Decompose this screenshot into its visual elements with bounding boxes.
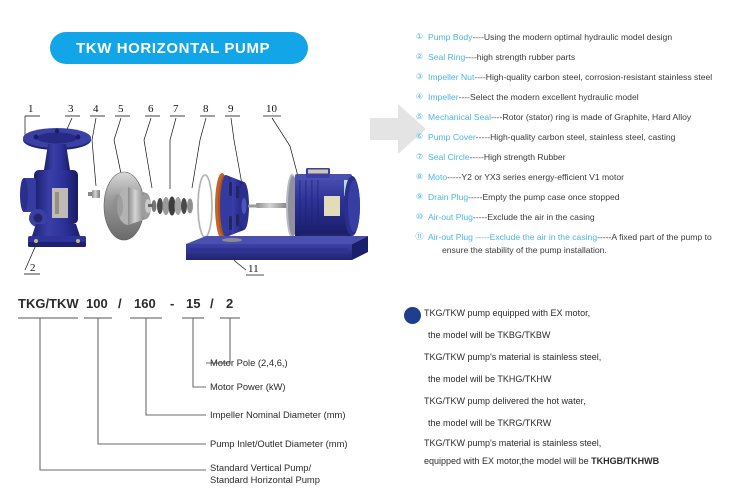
part-description: Select the modern excellent hydraulic mo… — [470, 92, 639, 103]
pump-cover-part — [215, 173, 249, 239]
variant-line: TKG/TKW pump's material is stainless ste… — [424, 434, 756, 452]
model-code-inlet: 100 — [86, 296, 108, 311]
model-variant-notes: TKG/TKW pump equipped with EX motor, the… — [400, 302, 756, 470]
part-description: Empty the pump case once stopped — [482, 192, 619, 203]
variant-line-prefix: equipped with EX motor,the model will be — [424, 456, 591, 466]
mechanical-seal-part — [148, 197, 193, 216]
part-dash: ----- — [468, 192, 482, 203]
variant-line: the model will be TKBG/TKBW — [428, 324, 756, 346]
motor-part — [248, 168, 360, 242]
base-plate-part — [186, 236, 368, 260]
part-description: Exclude the air in the casing — [487, 212, 595, 223]
variant-line-final: equipped with EX motor,the model will be… — [424, 452, 756, 470]
part-number: ④ — [414, 92, 425, 102]
seal-circle-part — [198, 175, 212, 237]
variant-model-code: TKHGB/TKHWB — [591, 456, 659, 466]
callout-1: 1 — [28, 103, 34, 115]
callout-5: 5 — [118, 103, 124, 115]
part-number: ① — [414, 32, 425, 42]
part-dash: ----- — [470, 152, 484, 163]
part-dash: ---- — [474, 72, 485, 83]
model-designation-diagram: TKG/TKW 100 / 160 - 15 / 2 — [0, 292, 396, 500]
part-row: ⑧ Moto ----- Y2 or YX3 series energy-eff… — [414, 172, 754, 192]
bullet-point-icon — [404, 307, 421, 324]
part-row: ⑪ Air-out Plug -----Exclude the air in t… — [414, 232, 754, 255]
part-name: Impeller Nut — [428, 72, 474, 83]
label-impeller-diameter: Impeller Nominal Diameter (mm) — [210, 409, 345, 420]
callout-6: 6 — [148, 103, 154, 115]
model-code-slash2: / — [210, 296, 214, 311]
parts-description-list: ① Pump Body ---- Using the modern optima… — [414, 32, 754, 255]
part-number: ⑥ — [414, 132, 425, 142]
part-number: ⑩ — [414, 212, 425, 222]
label-motor-pole: Motor Pole (2,4,6,) — [210, 357, 288, 368]
callout-11: 11 — [248, 263, 259, 275]
part-name: Seal Circle — [428, 152, 470, 163]
model-code-impeller: 160 — [134, 296, 156, 311]
impeller-part — [104, 172, 151, 240]
pump-body-part — [20, 128, 91, 247]
part-description-highlight: Exclude the air in the casing — [490, 232, 598, 242]
part-dash: ----- — [473, 212, 487, 223]
part-number: ② — [414, 52, 425, 62]
part-name: Impeller — [428, 92, 459, 103]
part-number: ③ — [414, 72, 425, 82]
callout-3: 3 — [68, 103, 74, 115]
label-inlet-diameter: Pump Inlet/Outlet Diameter (mm) — [210, 438, 348, 449]
part-name: Air-out Plug — [428, 232, 473, 242]
part-dash: ----- — [447, 172, 461, 183]
model-code-series: TKG/TKW — [18, 296, 79, 311]
part-row: ② Seal Ring ---- high strength rubber pa… — [414, 52, 754, 72]
part-description: High-quality carbon steel, stainless ste… — [490, 132, 675, 143]
variant-line: TKG/TKW pump equipped with EX motor, — [424, 302, 756, 324]
variant-line: the model will be TKHG/TKHW — [428, 368, 756, 390]
callout-7: 7 — [173, 103, 179, 115]
pump-product-sheet: TKW HORIZONTAL PUMP — [0, 0, 756, 500]
variant-line: the model will be TKRG/TKRW — [428, 412, 756, 434]
part-row: ⑩ Air-out Plug ----- Exclude the air in … — [414, 212, 754, 232]
callout-8: 8 — [203, 103, 209, 115]
callout-10: 10 — [266, 103, 278, 115]
part-number: ⑪ — [414, 232, 425, 242]
part-dash: ----- — [473, 232, 490, 242]
part-number: ⑧ — [414, 172, 425, 182]
part-name: Seal Ring — [428, 52, 465, 63]
label-motor-power: Motor Power (kW) — [210, 381, 286, 392]
impeller-nut-part — [88, 190, 100, 198]
part-row: ⑦ Seal Circle ----- High strength Rubber — [414, 152, 754, 172]
part-dash: ---- — [472, 32, 483, 43]
part-name: Air-out Plug — [428, 212, 473, 223]
label-standard-vertical: Standard Vertical Pump/ — [210, 462, 311, 473]
variant-line: TKG/TKW pump's material is stainless ste… — [424, 346, 756, 368]
part-dash: ---- — [465, 52, 476, 63]
title-banner: TKW HORIZONTAL PUMP — [50, 32, 308, 64]
model-code-pole: 2 — [226, 296, 233, 311]
model-code-power: 15 — [186, 296, 200, 311]
part-row: ⑨ Drain Plug ----- Empty the pump case o… — [414, 192, 754, 212]
part-number: ⑤ — [414, 112, 425, 122]
part-description: High strength Rubber — [484, 152, 566, 163]
part-description: high strength rubber parts — [477, 52, 575, 63]
label-standard-horizontal: Standard Horizontal Pump — [210, 474, 320, 485]
part-number: ⑨ — [414, 192, 425, 202]
part-row: ③ Impeller Nut ---- High-quality carbon … — [414, 72, 754, 92]
callout-4: 4 — [93, 103, 99, 115]
part-dash: ---- — [459, 92, 470, 103]
page-title: TKW HORIZONTAL PUMP — [76, 40, 270, 57]
part-name: Mechanical Seal — [428, 112, 491, 123]
part-row: ⑥ Pump Cover ----- High-quality carbon s… — [414, 132, 754, 152]
part-description: -----A fixed part of the pump to — [597, 232, 712, 242]
part-name: Moto — [428, 172, 447, 183]
part-name: Pump Body — [428, 32, 472, 43]
model-code-slash1: / — [118, 296, 122, 311]
variant-line: TKG/TKW pump delivered the hot water, — [424, 390, 756, 412]
part-dash: ---- — [491, 112, 502, 123]
part-row: ④ Impeller ---- Select the modern excell… — [414, 92, 754, 112]
part-description: Rotor (stator) ring is made of Graphite,… — [503, 112, 692, 123]
callout-9: 9 — [228, 103, 234, 115]
callout-2: 2 — [30, 262, 36, 274]
part-number: ⑦ — [414, 152, 425, 162]
part-dash: ----- — [476, 132, 490, 143]
part-description: High-quality carbon steel, corrosion-res… — [486, 72, 712, 83]
part-row: ① Pump Body ---- Using the modern optima… — [414, 32, 754, 52]
part-row: ⑤ Mechanical Seal ---- Rotor (stator) ri… — [414, 112, 754, 132]
part-name: Pump Cover — [428, 132, 476, 143]
part-description: Y2 or YX3 series energy-efficient V1 mot… — [461, 172, 624, 183]
part-description: Using the modern optimal hydraulic model… — [484, 32, 672, 43]
part-description-line2: ensure the stability of the pump install… — [442, 245, 712, 256]
exploded-view-diagram: 1 3 4 5 6 7 8 9 10 2 11 — [0, 96, 380, 286]
model-code-dash: - — [170, 296, 174, 311]
part-name: Drain Plug — [428, 192, 468, 203]
